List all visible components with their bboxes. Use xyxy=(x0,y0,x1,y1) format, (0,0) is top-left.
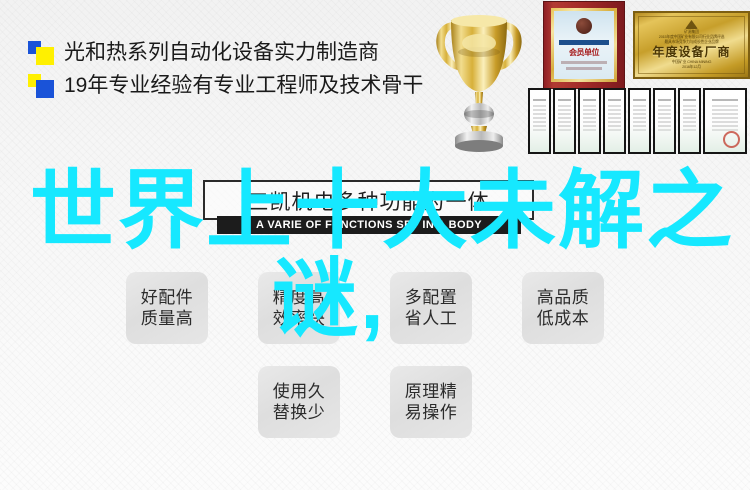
header-claim-row: 19年专业经验有专业工程师及技术骨干 xyxy=(28,71,458,101)
feature-line-2: 易操作 xyxy=(405,402,458,423)
award-plaque-gold: 矿源集团 2015年度中国矿业有限公司行业品牌评选 最具市场竞争力与成长性企业品… xyxy=(633,11,750,79)
feature-line-2: 省人工 xyxy=(405,308,458,329)
feature-box: 使用久 替换少 xyxy=(258,366,340,438)
certificate-item xyxy=(528,88,551,154)
page-title-line-2: 谜, xyxy=(272,256,730,342)
feature-box: 原理精 易操作 xyxy=(390,366,472,438)
feature-line-1: 高品质 xyxy=(537,287,590,308)
feature-line-1: 精度高 xyxy=(273,287,326,308)
feature-box: 高品质 低成本 xyxy=(522,272,604,344)
feature-line-2: 效率快 xyxy=(273,308,326,329)
gold-plaque-title: 年度设备厂商 xyxy=(639,45,744,59)
certificate-item xyxy=(578,88,601,154)
feature-box: 好配件 质量高 xyxy=(126,272,208,344)
gold-plaque-line2: 最具市场竞争力与成长性企业品牌 xyxy=(642,39,742,44)
certificate-item xyxy=(628,88,651,154)
gold-trophy-icon xyxy=(423,6,535,154)
mountain-logo-icon xyxy=(685,20,698,29)
banner-cn-text: 三凯机电多种功能为一体 xyxy=(203,186,534,216)
medal-icon xyxy=(576,18,592,34)
awards-cluster: 会员单位 矿源集团 2015年度中国矿业有限公司行业品牌评选 最具市场竞争力与成… xyxy=(418,0,750,158)
certificate-row xyxy=(528,88,750,154)
feature-line-2: 低成本 xyxy=(537,308,590,329)
red-plaque-title: 会员单位 xyxy=(554,48,614,57)
header-claim-text-1: 光和热系列自动化设备实力制造商 xyxy=(64,40,379,66)
feature-box: 多配置 省人工 xyxy=(390,272,472,344)
feature-line-1: 好配件 xyxy=(141,287,194,308)
feature-box: 精度高 效率快 xyxy=(258,272,340,344)
feature-line-1: 原理精 xyxy=(405,381,458,402)
header-claim-text-2: 19年专业经验有专业工程师及技术骨干 xyxy=(64,73,423,99)
promo-banner-page: 光和热系列自动化设备实力制造商 19年专业经验有专业工程师及技术骨干 xyxy=(0,0,750,490)
certificate-item xyxy=(603,88,626,154)
product-banner: 三凯机电多种功能为一体 A VARIE OF FUNCTIONS SET IN … xyxy=(203,180,534,238)
feature-line-2: 替换少 xyxy=(273,402,326,423)
header-claims-block: 光和热系列自动化设备实力制造商 19年专业经验有专业工程师及技术骨干 xyxy=(28,38,458,104)
certificate-item xyxy=(553,88,576,154)
honor-plaque-red: 会员单位 xyxy=(543,1,625,89)
feature-line-1: 使用久 xyxy=(273,381,326,402)
header-claim-row: 光和热系列自动化设备实力制造商 xyxy=(28,38,458,68)
feature-line-2: 质量高 xyxy=(141,308,194,329)
certificate-item xyxy=(678,88,701,154)
banner-en-text: A VARIE OF FUNCTIONS SET IN A BODY xyxy=(217,216,521,234)
feature-line-1: 多配置 xyxy=(405,287,458,308)
certificate-item xyxy=(653,88,676,154)
gold-plaque-footer2: 2016年12月 xyxy=(642,64,742,69)
yellow-blue-square-icon xyxy=(28,41,58,65)
certificate-item-featured xyxy=(703,88,747,154)
blue-yellow-square-icon xyxy=(28,74,58,98)
